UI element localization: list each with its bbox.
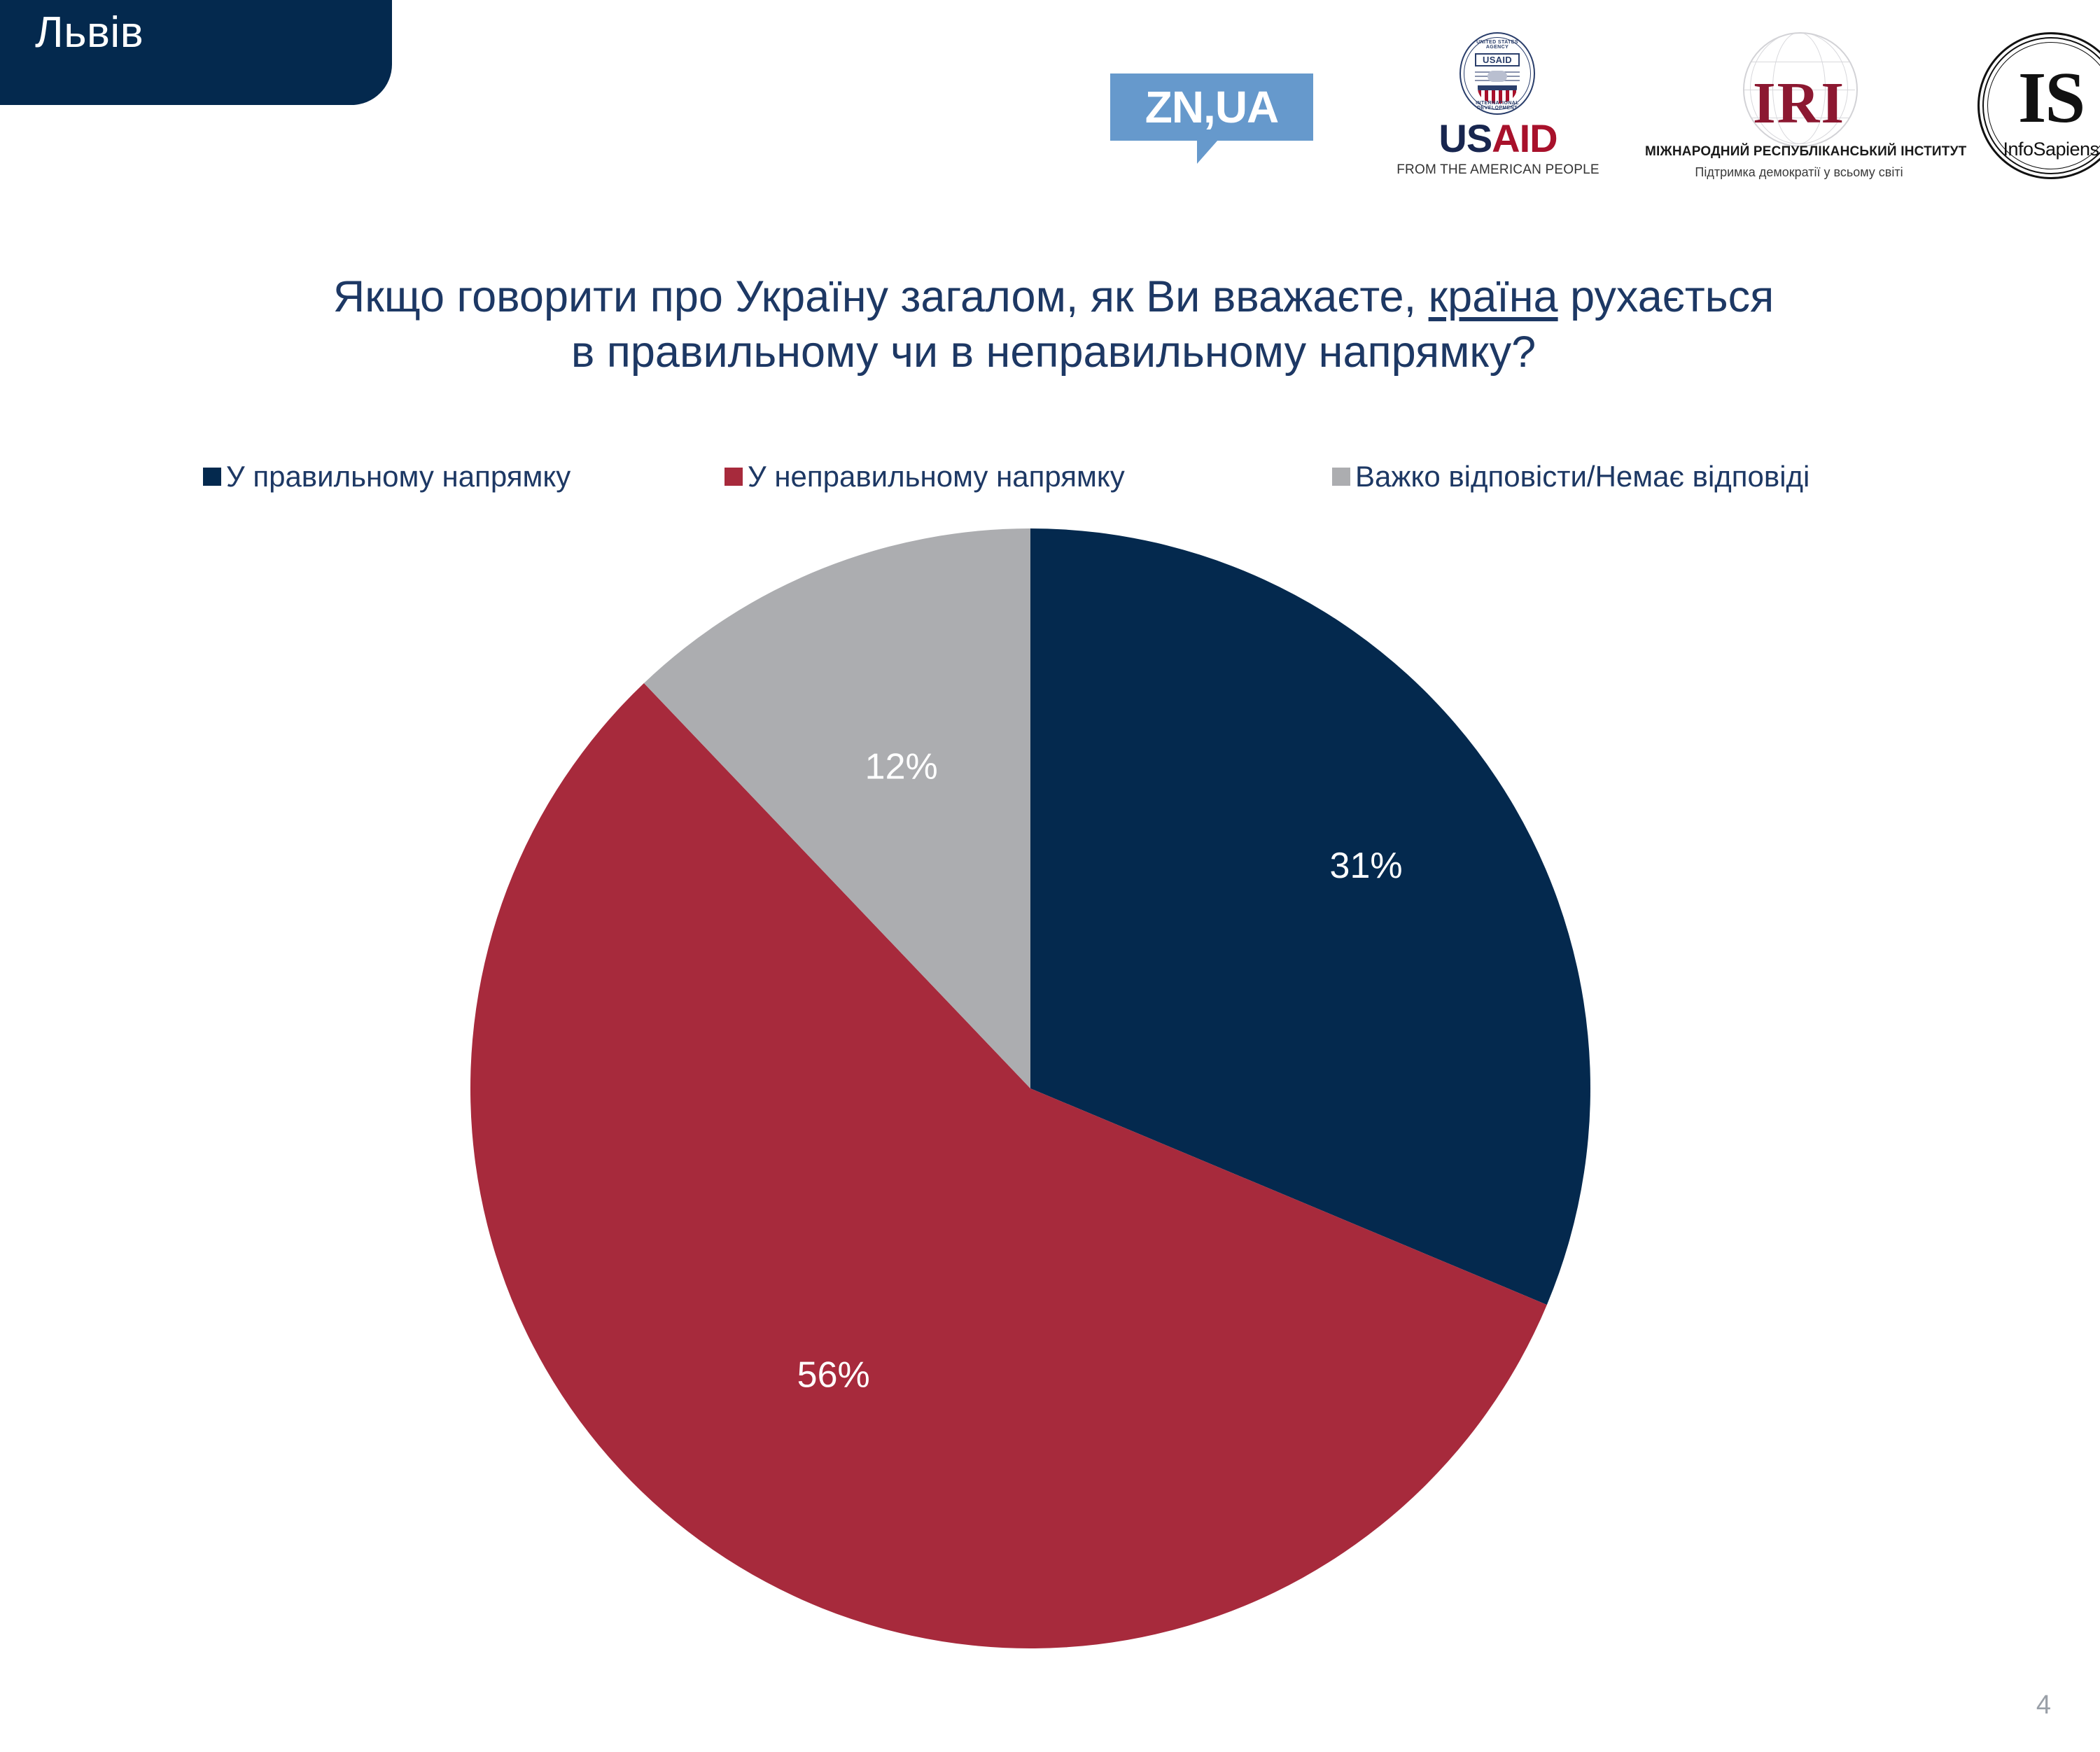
usaid-seal-badge-text: USAID [1475, 53, 1520, 66]
zn-ua-logo-text: ZN,UA [1110, 73, 1313, 141]
city-badge-label: Львів [35, 11, 143, 55]
city-badge: Львів [0, 0, 392, 105]
usaid-seal-icon: UNITED STATES AGENCY USAID INTERNATIONAL… [1459, 32, 1538, 118]
infosapiens-logo: IS InfoSapiens [1970, 28, 2100, 196]
legend-swatch-no-answer [1332, 468, 1350, 486]
pie-slice-label: 31% [1330, 846, 1403, 886]
page-number: 4 [2036, 1692, 2051, 1718]
iri-institute-name: МІЖНАРОДНИЙ РЕСПУБЛІКАНСЬКИЙ ІНСТИТУТ [1645, 144, 1953, 160]
chart-legend: У правильному напрямку У неправильному н… [203, 462, 1897, 504]
iri-logo: IRI МІЖНАРОДНИЙ РЕСПУБЛІКАНСЬКИЙ ІНСТИТУ… [1645, 28, 1953, 196]
legend-item-wrong-direction[interactable]: У неправильному напрямку [724, 462, 1125, 491]
legend-label-right-direction: У правильному напрямку [226, 462, 570, 491]
pie-slice-label: 56% [797, 1355, 870, 1396]
pie-chart: 31%56%12% [467, 525, 1594, 1652]
usaid-tagline: FROM THE AMERICAN PEOPLE [1393, 162, 1603, 178]
infosapiens-wordmark: InfoSapiens [1970, 139, 2100, 160]
usaid-seal-top-text: UNITED STATES AGENCY [1465, 40, 1529, 50]
page-title-line2: в правильному чи в неправильному напрямк… [571, 328, 1536, 377]
legend-swatch-right-direction [203, 468, 221, 486]
legend-label-no-answer: Важко відповісти/Немає відповіді [1355, 462, 1809, 491]
usaid-seal-bottom-text: INTERNATIONAL DEVELOPMENT [1465, 101, 1529, 111]
legend-label-wrong-direction: У неправильному напрямку [748, 462, 1125, 491]
page-title-line1-before: Якщо говорити про Україну загалом, як Ви… [333, 272, 1429, 321]
legend-item-right-direction[interactable]: У правильному напрямку [203, 462, 570, 491]
zn-ua-speech-tail-icon [1197, 140, 1218, 164]
iri-acronym: IRI [1645, 74, 1953, 133]
iri-tagline: Підтримка демократії у всьому світі [1645, 165, 1953, 180]
page-title: Якщо говорити про Україну загалом, як Ви… [63, 269, 2044, 380]
pie-slice-label: 12% [865, 747, 938, 787]
legend-swatch-wrong-direction [724, 468, 743, 486]
pie-slice-group [470, 528, 1590, 1648]
usaid-handshake-icon [1475, 70, 1520, 83]
page-title-underlined-word: країна [1429, 272, 1558, 321]
usaid-wordmark-us: US [1438, 116, 1492, 160]
page-title-line1-after: рухається [1558, 272, 1774, 321]
usaid-logo: UNITED STATES AGENCY USAID INTERNATIONAL… [1393, 28, 1603, 189]
usaid-wordmark: USAID [1393, 119, 1603, 158]
infosapiens-monogram: IS [1970, 62, 2100, 134]
pie-chart-svg: 31%56%12% [467, 525, 1594, 1652]
zn-ua-logo: ZN,UA [1110, 73, 1313, 150]
legend-item-no-answer[interactable]: Важко відповісти/Немає відповіді [1332, 462, 1809, 491]
usaid-wordmark-aid: AID [1492, 116, 1557, 160]
sponsor-logo-strip: ZN,UA UNITED STATES AGENCY USAID INTERNA… [1092, 28, 2086, 210]
